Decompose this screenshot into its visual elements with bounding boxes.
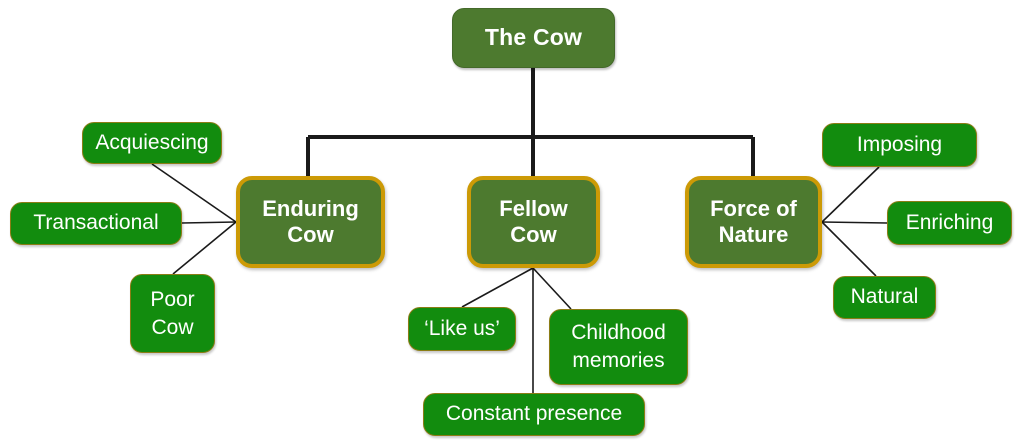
node-label-natural: Natural: [834, 285, 935, 310]
node-transactional[interactable]: Transactional: [10, 202, 182, 245]
node-natural[interactable]: Natural: [833, 276, 936, 319]
node-force-of-nature[interactable]: Force of Nature: [685, 176, 822, 268]
node-the-cow[interactable]: The Cow: [452, 8, 615, 68]
node-label-force-of-nature: Force of Nature: [689, 196, 818, 248]
node-label-transactional: Transactional: [11, 211, 181, 236]
node-acquiescing[interactable]: Acquiescing: [82, 122, 222, 164]
node-label-enriching: Enriching: [888, 211, 1011, 236]
node-label-acquiescing: Acquiescing: [83, 131, 221, 156]
diagram-canvas: The Cow Enduring Cow Acquiescing Transac…: [0, 0, 1021, 446]
node-label-enduring-cow: Enduring Cow: [240, 196, 381, 248]
node-imposing[interactable]: Imposing: [822, 123, 977, 167]
node-childhood-memories[interactable]: Childhood memories: [549, 309, 688, 385]
node-poor-cow[interactable]: Poor Cow: [130, 274, 215, 353]
node-label-childhood-memories: Childhood memories: [550, 319, 687, 374]
node-fellow-cow[interactable]: Fellow Cow: [467, 176, 600, 268]
node-enriching[interactable]: Enriching: [887, 201, 1012, 245]
node-label-imposing: Imposing: [823, 133, 976, 158]
node-label-fellow-cow: Fellow Cow: [471, 196, 596, 248]
node-like-us[interactable]: ‘Like us’: [408, 307, 516, 351]
node-label-poor-cow: Poor Cow: [131, 286, 214, 341]
node-constant-presence[interactable]: Constant presence: [423, 393, 645, 436]
node-enduring-cow[interactable]: Enduring Cow: [236, 176, 385, 268]
node-label-constant-presence: Constant presence: [424, 402, 644, 427]
node-label-like-us: ‘Like us’: [409, 317, 515, 342]
node-label-the-cow: The Cow: [453, 24, 614, 51]
